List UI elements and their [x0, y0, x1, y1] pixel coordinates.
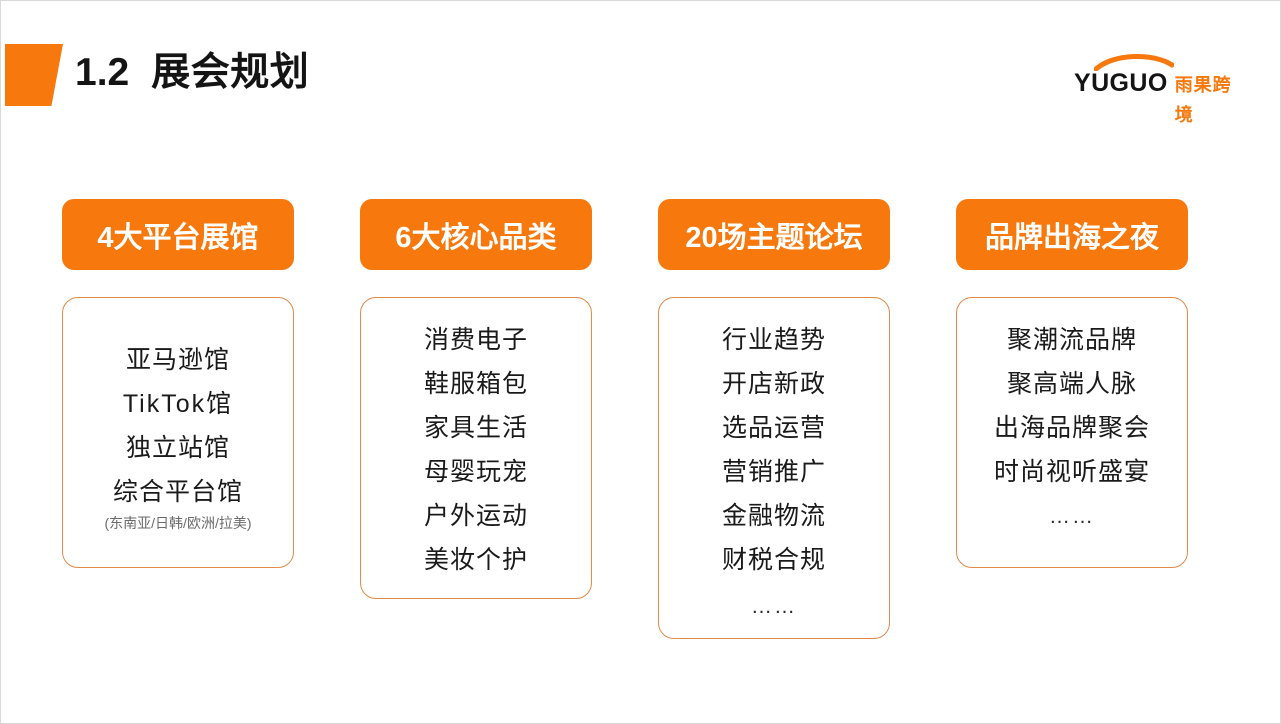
card-line: 营销推广: [722, 450, 826, 494]
card-line: 选品运营: [722, 406, 826, 450]
card-line: 金融物流: [722, 494, 826, 538]
card-line: 亚马逊馆: [126, 338, 230, 382]
card-line: 消费电子: [424, 318, 528, 362]
brand-logo: YUGUO 雨果跨境: [1074, 51, 1240, 103]
section-title: 展会规划: [151, 51, 309, 94]
card-line: 财税合规: [722, 538, 826, 582]
logo-latin-text: YUGUO: [1074, 68, 1168, 98]
card-title-core-categories: 6大核心品类: [360, 199, 592, 270]
card-line: 独立站馆: [126, 426, 230, 470]
card-line: TikTok馆: [123, 382, 233, 426]
card-line: 出海品牌聚会: [994, 406, 1150, 450]
card-body-core-categories: 消费电子 鞋服箱包 家具生活 母婴玩宠 户外运动 美妆个护: [360, 297, 592, 599]
card-title-brand-night: 品牌出海之夜: [956, 199, 1188, 270]
card-line: 聚潮流品牌: [1007, 318, 1137, 362]
logo-chinese-text: 雨果跨境: [1175, 70, 1240, 130]
card-line: 行业趋势: [722, 318, 826, 362]
card-title-platform-halls: 4大平台展馆: [62, 199, 294, 270]
slide-header: 1.2展会规划 YUGUO 雨果跨境: [1, 1, 1281, 141]
card-ellipsis: ……: [751, 592, 797, 622]
card-core-categories: 6大核心品类 消费电子 鞋服箱包 家具生活 母婴玩宠 户外运动 美妆个护: [360, 199, 592, 639]
card-line: 时尚视听盛宴: [994, 450, 1150, 494]
card-title-theme-forums: 20场主题论坛: [658, 199, 890, 270]
card-line: 母婴玩宠: [424, 450, 528, 494]
card-brand-night: 品牌出海之夜 聚潮流品牌 聚高端人脉 出海品牌聚会 时尚视听盛宴 ……: [956, 199, 1188, 639]
card-body-platform-halls: 亚马逊馆 TikTok馆 独立站馆 综合平台馆 (东南亚/日韩/欧洲/拉美): [62, 297, 294, 568]
card-line: 综合平台馆: [113, 470, 243, 514]
page-title: 1.2展会规划: [75, 45, 309, 101]
card-theme-forums: 20场主题论坛 行业趋势 开店新政 选品运营 营销推广 金融物流 财税合规 ……: [658, 199, 890, 639]
section-number: 1.2: [75, 51, 129, 94]
card-line: 聚高端人脉: [1007, 362, 1137, 406]
card-line: 家具生活: [424, 406, 528, 450]
title-accent-mark: [5, 44, 63, 106]
card-body-brand-night: 聚潮流品牌 聚高端人脉 出海品牌聚会 时尚视听盛宴 ……: [956, 297, 1188, 568]
card-line: 户外运动: [424, 494, 528, 538]
card-body-theme-forums: 行业趋势 开店新政 选品运营 营销推广 金融物流 财税合规 ……: [658, 297, 890, 639]
card-ellipsis: ……: [1049, 502, 1095, 532]
card-line: 开店新政: [722, 362, 826, 406]
card-line: 美妆个护: [424, 538, 528, 582]
slide: 1.2展会规划 YUGUO 雨果跨境 4大平台展馆 亚马逊馆 TikTok馆 独…: [0, 0, 1281, 724]
card-note: (东南亚/日韩/欧洲/拉美): [105, 512, 252, 534]
card-line: 鞋服箱包: [424, 362, 528, 406]
card-grid: 4大平台展馆 亚马逊馆 TikTok馆 独立站馆 综合平台馆 (东南亚/日韩/欧…: [62, 199, 1195, 639]
card-platform-halls: 4大平台展馆 亚马逊馆 TikTok馆 独立站馆 综合平台馆 (东南亚/日韩/欧…: [62, 199, 294, 639]
